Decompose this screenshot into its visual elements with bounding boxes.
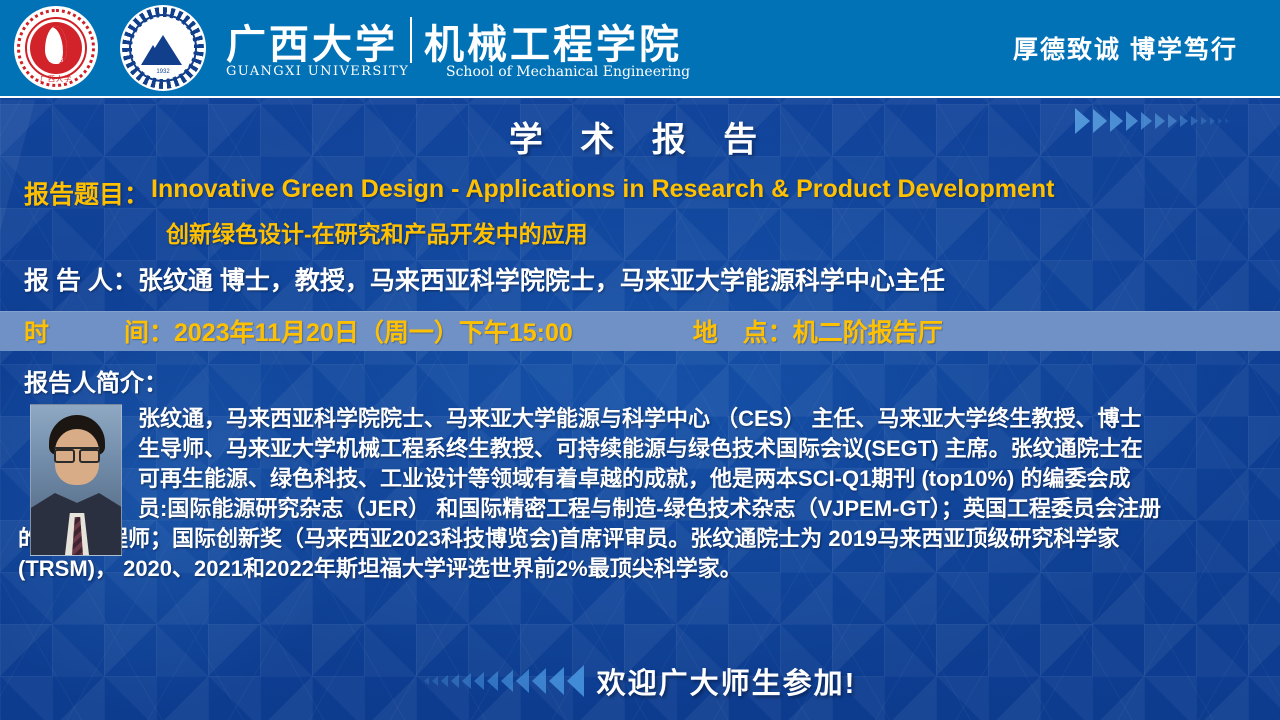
bio-label: 报告人简介：	[24, 363, 1280, 398]
wordmark-divider	[410, 17, 412, 63]
talk-title-row: 报告题目： Innovative Green Design - Applicat…	[24, 175, 1280, 211]
header-bar: 1928 广西大学 1932 广西大学 机械工程学院 GUANGXI UNIVE…	[0, 0, 1280, 98]
bio-line: 的特许工程师；国际创新奖（马来西亚2023科技博览会)首席评审员。张纹通院士为 …	[18, 524, 1262, 554]
seal-name: 广西大学	[14, 74, 98, 84]
place-line: 地 点：机二阶报告厅	[693, 313, 943, 349]
wordmark-university-cn: 广西大学	[226, 25, 398, 65]
bio-paragraph: 张纹通，马来西亚科学院院士、马来亚大学能源与科学中心 （CES） 主任、马来亚大…	[0, 404, 1280, 584]
bio-line: 可再生能源、绿色科技、工业设计等领域有着卓越的成就，他是两本SCI-Q1期刊 (…	[138, 464, 1262, 494]
logo-group: 1928 广西大学 1932 广西大学 机械工程学院 GUANGXI UNIVE…	[0, 5, 690, 91]
poster-root: 1928 广西大学 1932 广西大学 机械工程学院 GUANGXI UNIVE…	[0, 0, 1280, 720]
bio-line: (TRSM)， 2020、2021和2022年斯坦福大学评选世界前2%最顶尖科学…	[18, 554, 1262, 584]
bio-line: 生导师、马来亚大学机械工程系终生教授、可持续能源与绿色技术国际会议(SEGT) …	[138, 434, 1262, 464]
guangxi-university-seal-icon: 1928 广西大学	[14, 6, 98, 90]
welcome-row: 欢迎广大师生参加!	[0, 660, 1280, 702]
speaker-portrait-photo	[30, 404, 122, 556]
wordmark-college-en: School of Mechanical Engineering	[446, 65, 690, 79]
time-line: 时 间：2023年11月20日（周一）下午15:00	[24, 313, 573, 349]
wordmark-college-cn: 机械工程学院	[424, 25, 682, 65]
wordmark: 广西大学 机械工程学院 GUANGXI UNIVERSITY School of…	[226, 17, 690, 79]
talk-title-en: Innovative Green Design - Applications i…	[151, 175, 1054, 204]
college-seal-year: 1932	[120, 69, 206, 75]
bio-line: 员:国际能源研究杂志（JER） 和国际精密工程与制造-绿色技术杂志（VJPEM-…	[138, 494, 1262, 524]
bio-line: 张纹通，马来西亚科学院院士、马来亚大学能源与科学中心 （CES） 主任、马来亚大…	[138, 404, 1262, 434]
speaker-line: 报 告 人：张纹通 博士，教授，马来西亚科学院院士，马来亚大学能源科学中心主任	[24, 261, 1280, 297]
wordmark-university-en: GUANGXI UNIVERSITY	[226, 65, 446, 79]
welcome-text: 欢迎广大师生参加!	[597, 660, 857, 702]
time-place-band: 时 间：2023年11月20日（周一）下午15:00 地 点：机二阶报告厅	[0, 311, 1280, 351]
chevron-decoration-bottom	[424, 665, 587, 697]
university-motto: 厚德致诚 博学笃行	[1013, 30, 1238, 66]
poster-body: 学 术 报 告 报告题目： Innovative Green Design - …	[0, 98, 1280, 584]
bio-zone: 张纹通，马来西亚科学院院士、马来亚大学能源与科学中心 （CES） 主任、马来亚大…	[0, 404, 1280, 584]
talk-title-cn: 创新绿色设计-在研究和产品开发中的应用	[166, 215, 1280, 249]
school-of-mechanical-engineering-seal-icon: 1932	[120, 5, 206, 91]
talk-title-label: 报告题目：	[24, 175, 149, 211]
page-title: 学 术 报 告	[0, 98, 1280, 161]
seal-year: 1928	[14, 58, 98, 64]
